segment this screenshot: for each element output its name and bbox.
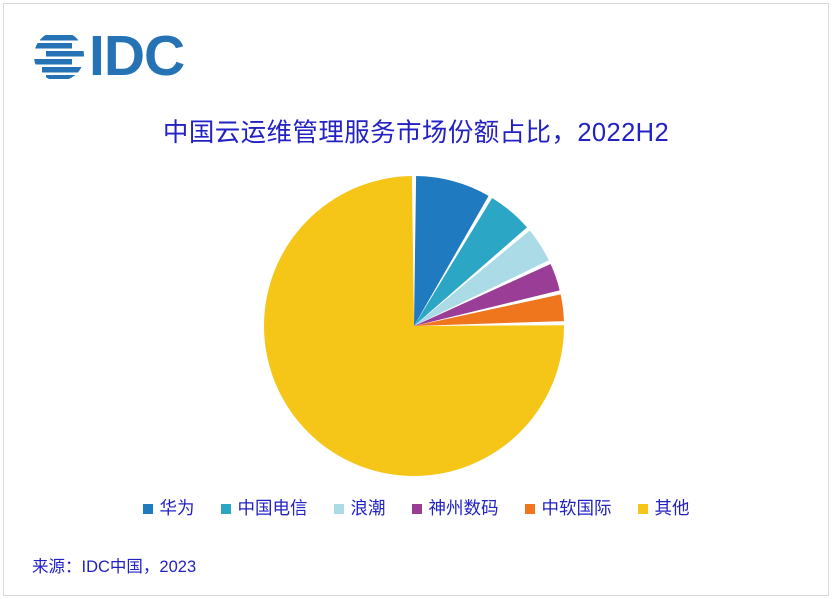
idc-logo-text: IDC	[89, 28, 184, 85]
pie-slice-group	[264, 176, 564, 476]
source-note: 来源：IDC中国，2023	[32, 553, 196, 577]
legend-swatch-icon	[412, 504, 422, 514]
chart-legend: 华为中国电信浪潮神州数码中软国际其他	[0, 500, 832, 518]
legend-item[interactable]: 中软国际	[525, 500, 612, 518]
chart-page: IDC 中国云运维管理服务市场份额占比，2022H2 华为中国电信浪潮神州数码中…	[0, 0, 832, 599]
legend-item-label: 中软国际	[542, 500, 612, 518]
idc-logo: IDC	[32, 28, 184, 84]
legend-swatch-icon	[525, 504, 535, 514]
legend-item[interactable]: 中国电信	[221, 500, 308, 518]
legend-swatch-icon	[143, 504, 153, 514]
pie-chart	[256, 168, 576, 484]
pie-chart-area	[0, 168, 832, 484]
chart-title: 中国云运维管理服务市场份额占比，2022H2	[0, 112, 832, 149]
legend-item-label: 神州数码	[429, 500, 499, 518]
legend-item-label: 其他	[655, 500, 690, 518]
legend-item[interactable]: 浪潮	[334, 500, 386, 518]
legend-item[interactable]: 其他	[638, 500, 690, 518]
legend-swatch-icon	[638, 504, 648, 514]
idc-globe-icon	[32, 29, 86, 83]
legend-item[interactable]: 神州数码	[412, 500, 499, 518]
legend-item-label: 华为	[160, 500, 195, 518]
legend-item-label: 浪潮	[351, 500, 386, 518]
legend-swatch-icon	[334, 504, 344, 514]
legend-item-label: 中国电信	[238, 500, 308, 518]
legend-item[interactable]: 华为	[143, 500, 195, 518]
legend-swatch-icon	[221, 504, 231, 514]
